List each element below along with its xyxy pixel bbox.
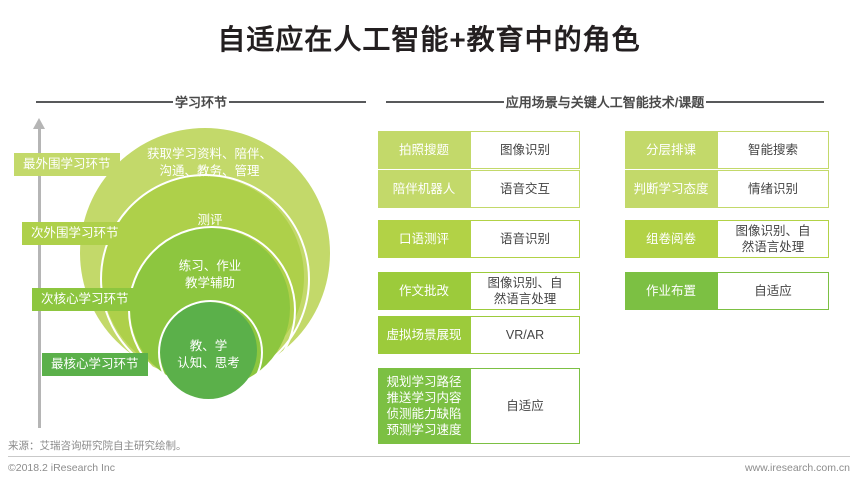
- footer-divider: [8, 456, 850, 457]
- scenario-group-right-3: 作业布置 自适应: [625, 272, 829, 310]
- technology-name: VR/AR: [470, 316, 580, 354]
- table-row: 判断学习态度 情绪识别: [625, 170, 829, 208]
- rule-right-a: [386, 101, 504, 103]
- technology-name: 智能搜索: [717, 131, 829, 169]
- section-header-learning-stages: 学习环节: [36, 92, 366, 111]
- infographic-root: 自适应在人工智能+教育中的角色 学习环节 应用场景与关键人工智能技术/课题 获取…: [0, 0, 858, 484]
- circle-label-outer: 获取学习资料、陪伴、 沟通、教务、管理: [122, 146, 297, 180]
- section-header-right-label: 应用场景与关键人工智能技术/课题: [504, 92, 707, 111]
- stage-label-innermost: 最核心学习环节: [42, 353, 148, 376]
- scenario-name: 组卷阅卷: [625, 220, 717, 258]
- scenario-name: 分层排课: [625, 131, 717, 169]
- scenario-name: 规划学习路径 推送学习内容 侦测能力缺陷 预测学习速度: [378, 368, 470, 444]
- stage-label-second-outer: 次外围学习环节: [22, 222, 128, 245]
- table-row: 规划学习路径 推送学习内容 侦测能力缺陷 预测学习速度 自适应: [378, 368, 580, 444]
- technology-name: 图像识别、自 然语言处理: [470, 272, 580, 310]
- technology-name: 语音交互: [470, 170, 580, 208]
- scenario-name: 作文批改: [378, 272, 470, 310]
- stage-label-outermost: 最外围学习环节: [14, 153, 120, 176]
- scenario-name: 作业布置: [625, 272, 717, 310]
- circle-label-third: 练习、作业 教学辅助: [145, 258, 275, 292]
- page-title: 自适应在人工智能+教育中的角色: [0, 18, 858, 58]
- technology-name: 图像识别: [470, 131, 580, 169]
- scenario-name: 陪伴机器人: [378, 170, 470, 208]
- scenario-group-middle-2: 口语测评 语音识别: [378, 220, 580, 258]
- rule-right-b: [706, 101, 824, 103]
- table-row: 拍照搜题 图像识别: [378, 131, 580, 169]
- table-row: 陪伴机器人 语音交互: [378, 170, 580, 208]
- table-row: 作文批改 图像识别、自 然语言处理: [378, 272, 580, 310]
- scenario-group-middle-1: 拍照搜题 图像识别 陪伴机器人 语音交互: [378, 131, 580, 208]
- table-row: 组卷阅卷 图像识别、自 然语言处理: [625, 220, 829, 258]
- technology-name: 自适应: [470, 368, 580, 444]
- section-header-scenarios: 应用场景与关键人工智能技术/课题: [386, 92, 824, 111]
- copyright-text: ©2018.2 iResearch Inc: [8, 462, 115, 474]
- circle-label-second: 测评: [140, 212, 280, 229]
- source-note: 来源：艾瑞咨询研究院自主研究绘制。: [8, 438, 187, 453]
- website-link[interactable]: www.iresearch.com.cn: [745, 462, 850, 474]
- scenario-group-middle-5: 规划学习路径 推送学习内容 侦测能力缺陷 预测学习速度 自适应: [378, 368, 580, 444]
- stage-label-second-core: 次核心学习环节: [32, 288, 138, 311]
- technology-name: 情绪识别: [717, 170, 829, 208]
- table-row: 分层排课 智能搜索: [625, 131, 829, 169]
- scenario-group-right-2: 组卷阅卷 图像识别、自 然语言处理: [625, 220, 829, 258]
- table-row: 作业布置 自适应: [625, 272, 829, 310]
- rule-left-b: [229, 101, 366, 103]
- scenario-name: 判断学习态度: [625, 170, 717, 208]
- circle-label-core: 教、学 认知、思考: [160, 338, 257, 372]
- technology-name: 自适应: [717, 272, 829, 310]
- table-row: 口语测评 语音识别: [378, 220, 580, 258]
- scenario-name: 拍照搜题: [378, 131, 470, 169]
- table-row: 虚拟场景展现 VR/AR: [378, 316, 580, 354]
- technology-name: 图像识别、自 然语言处理: [717, 220, 829, 258]
- scenario-name: 虚拟场景展现: [378, 316, 470, 354]
- scenario-group-right-1: 分层排课 智能搜索 判断学习态度 情绪识别: [625, 131, 829, 208]
- scenario-group-middle-3: 作文批改 图像识别、自 然语言处理: [378, 272, 580, 310]
- scenario-group-middle-4: 虚拟场景展现 VR/AR: [378, 316, 580, 354]
- technology-name: 语音识别: [470, 220, 580, 258]
- section-header-left-label: 学习环节: [173, 92, 229, 111]
- scenario-name: 口语测评: [378, 220, 470, 258]
- rule-left-a: [36, 101, 173, 103]
